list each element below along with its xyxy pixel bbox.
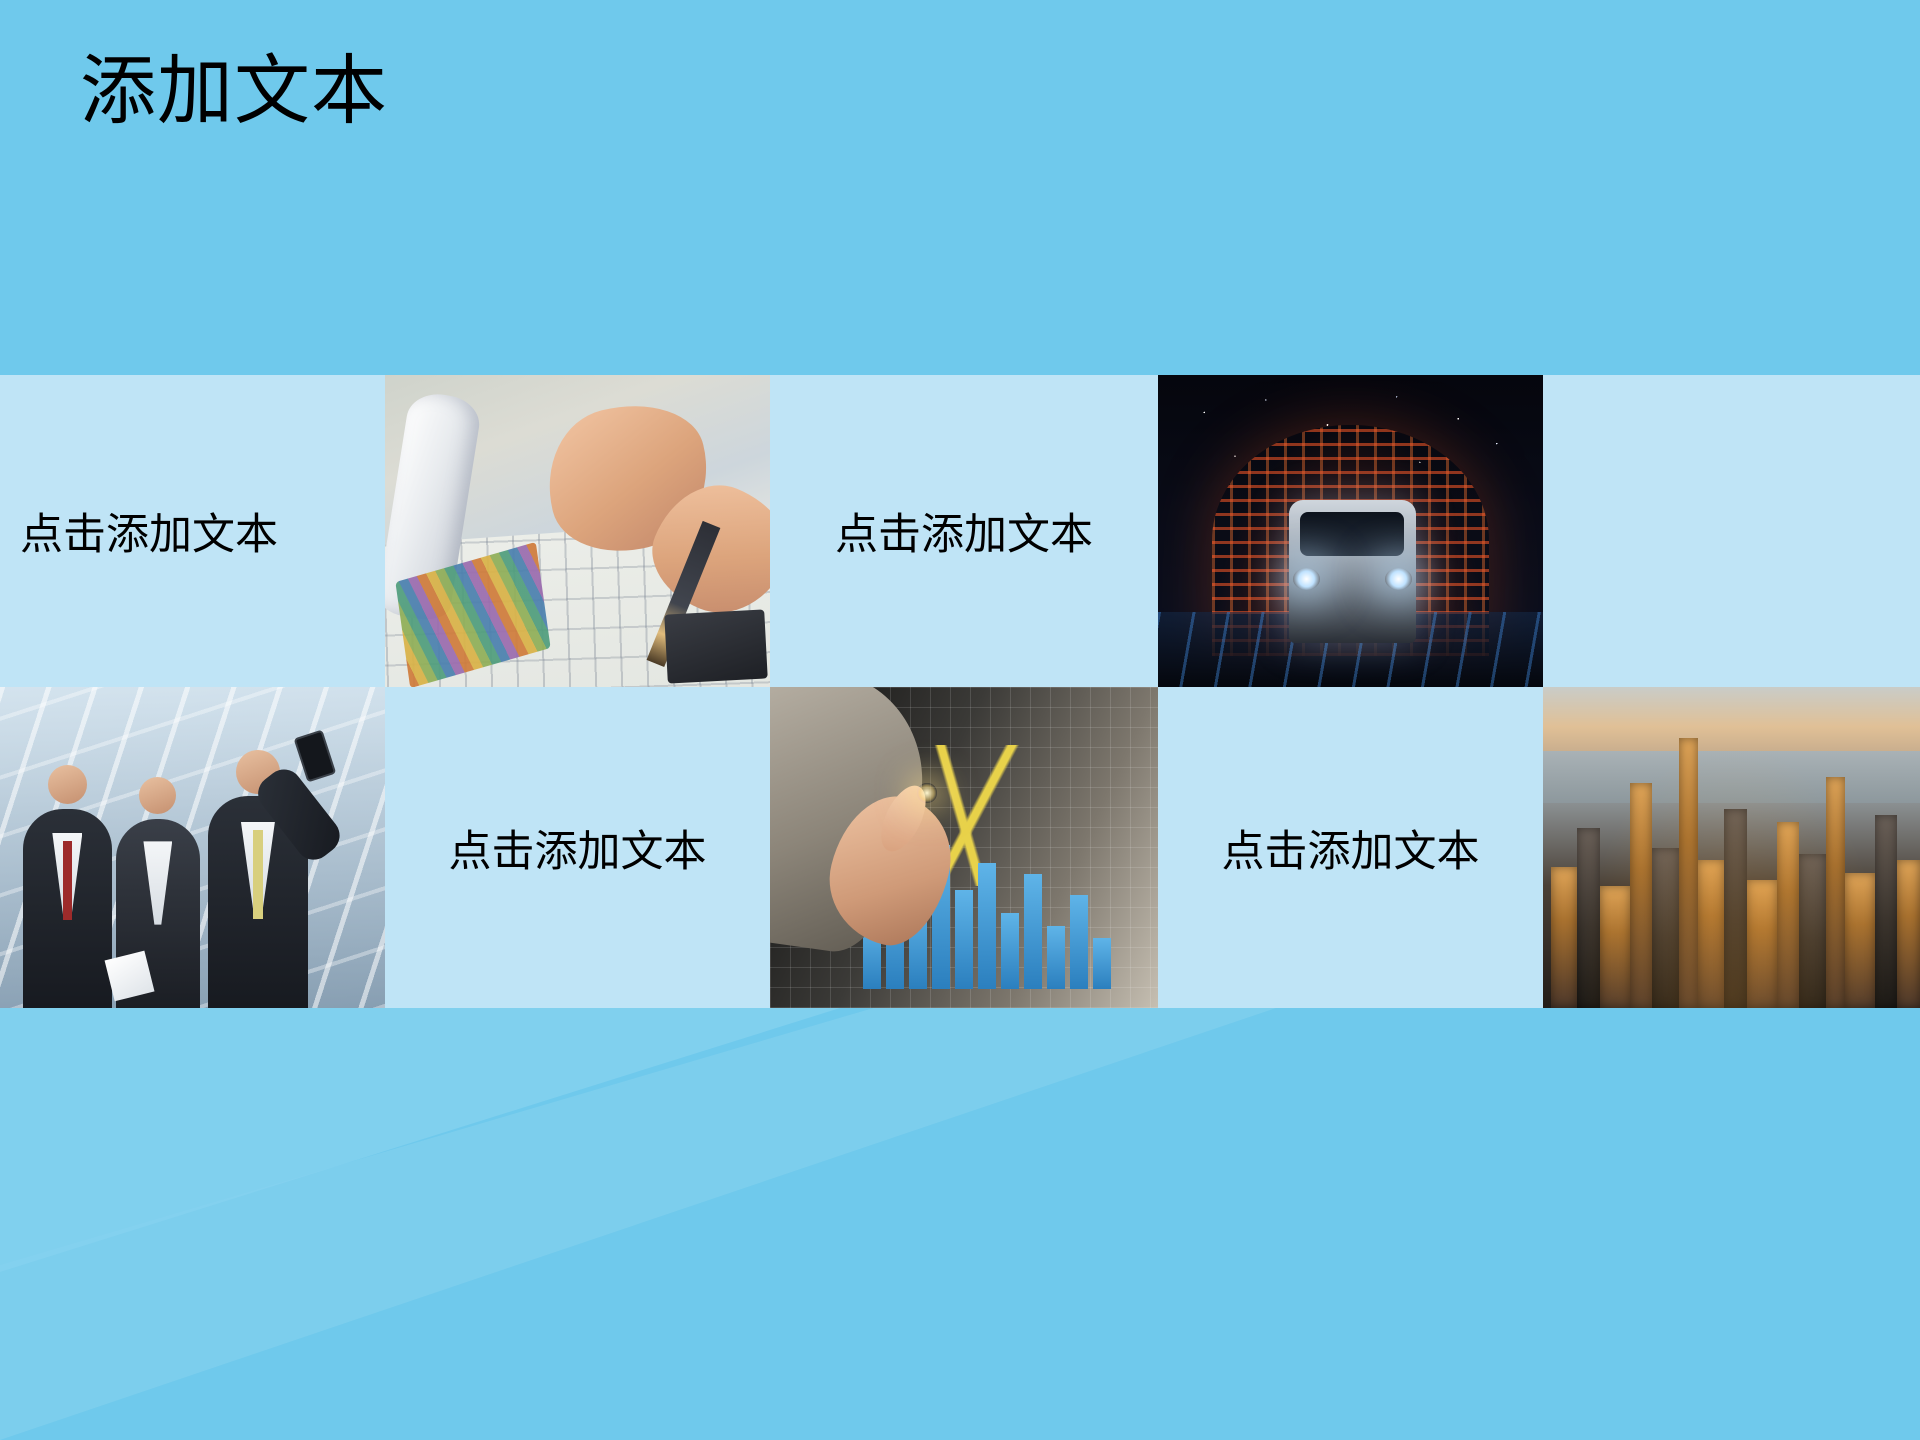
cell-text-4[interactable]: 点击添加文本 [1158, 687, 1543, 1008]
sunset-haze-shape [1543, 687, 1920, 1008]
tie-shape-3 [253, 830, 263, 919]
tie-shape-1 [63, 841, 72, 921]
person-shape-2 [116, 819, 201, 1008]
person-shape-3 [208, 796, 308, 1008]
headlight-left-shape [1293, 568, 1320, 590]
finance-chart-photo [770, 687, 1158, 1008]
cell-text-3[interactable]: 点击添加文本 [385, 687, 770, 1008]
designer-blueprint-photo [385, 375, 770, 687]
person-shape-1 [23, 809, 112, 1008]
business-team-photo [0, 687, 385, 1008]
blueprint-roll-shape [385, 389, 483, 622]
cell-image-chart[interactable] [770, 687, 1158, 1008]
cell-image-city[interactable] [1543, 687, 1920, 1008]
cell-text-2-label: 点击添加文本 [835, 500, 1093, 562]
head-shape-1 [48, 765, 87, 804]
presentation-slide: 添加文本 点击添加文本 点击添加文本 [0, 0, 1920, 1440]
shirt-shape-2 [143, 841, 172, 924]
content-grid: 点击添加文本 点击添加文本 [0, 375, 1920, 1008]
cell-image-van[interactable] [1158, 375, 1543, 687]
page-title: 添加文本 [80, 48, 388, 135]
cell-text-3-label: 点击添加文本 [449, 817, 707, 879]
touch-spark-shape [917, 783, 936, 802]
cell-text-2[interactable]: 点击添加文本 [770, 375, 1158, 687]
cell-image-blueprint[interactable] [385, 375, 770, 687]
cell-blank-1 [1543, 375, 1920, 687]
cell-text-1[interactable]: 点击添加文本 [0, 375, 385, 687]
night-van-photo [1158, 375, 1543, 687]
cell-text-4-label: 点击添加文本 [1222, 817, 1480, 879]
aerial-city-photo [1543, 687, 1920, 1008]
cell-text-1-label: 点击添加文本 [20, 500, 278, 562]
calculator-shape [664, 610, 768, 684]
van-windshield-shape [1300, 512, 1404, 556]
cell-image-team[interactable] [0, 687, 385, 1008]
